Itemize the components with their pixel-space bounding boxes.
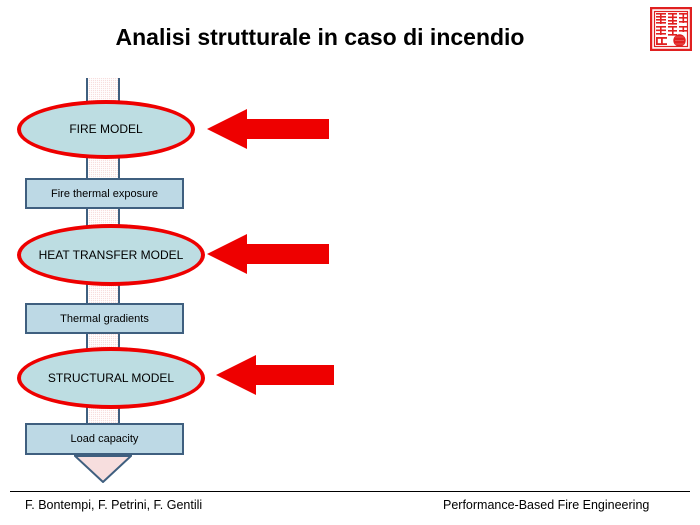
node-thermal-gradients-label: Thermal gradients [60,313,149,325]
page-title: Analisi strutturale in caso di incendio [60,24,580,51]
node-fire-thermal-exposure[interactable]: Fire thermal exposure [25,178,184,209]
pointer-arrow-left-icon-heat-transfer [207,232,329,276]
footer-authors: F. Bontempi, F. Petrini, F. Gentili [25,498,202,512]
node-structural-model-label: STRUCTURAL MODEL [48,371,174,386]
node-thermal-gradients[interactable]: Thermal gradients [25,303,184,334]
red-seal-logo-icon [650,7,692,51]
footer-topic: Performance-Based Fire Engineering [443,498,649,512]
node-fire-model[interactable]: FIRE MODEL [17,100,195,159]
node-fire-thermal-exposure-label: Fire thermal exposure [51,188,158,200]
node-heat-transfer-model-label: HEAT TRANSFER MODEL [39,248,184,263]
node-fire-model-label: FIRE MODEL [69,122,142,137]
pointer-arrow-left-icon-fire-model [207,107,329,151]
presentation-slide: Analisi strutturale in caso di incendio [0,0,700,525]
flow-arrow-down-icon [74,455,132,483]
node-load-capacity[interactable]: Load capacity [25,423,184,455]
node-load-capacity-label: Load capacity [71,433,139,445]
footer-divider [10,491,690,492]
node-heat-transfer-model[interactable]: HEAT TRANSFER MODEL [17,224,205,286]
node-structural-model[interactable]: STRUCTURAL MODEL [17,347,205,409]
pointer-arrow-left-icon-structural [216,353,334,397]
